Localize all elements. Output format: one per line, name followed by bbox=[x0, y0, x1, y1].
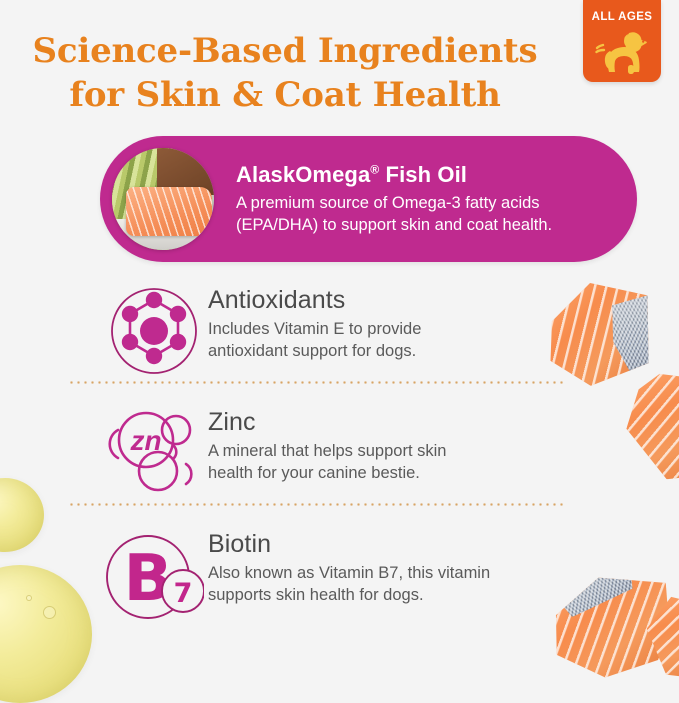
feature-title-zinc: Zinc bbox=[208, 408, 446, 437]
feature-biotin: B 7 Biotin Also known as Vitamin B7, thi… bbox=[100, 528, 570, 624]
feature-desc-line-2: supports skin health for dogs. bbox=[208, 585, 490, 607]
feature-desc-biotin: Also known as Vitamin B7, this vitamin s… bbox=[208, 563, 490, 607]
powered-by-text: POWERED BY bbox=[56, 140, 130, 143]
hero-title-brand: AlaskOmega bbox=[236, 162, 370, 187]
molecule-icon bbox=[109, 286, 199, 376]
feature-antioxidants: Antioxidants Includes Vitamin E to provi… bbox=[100, 284, 570, 376]
hero-copy: AlaskOmega® Fish Oil A premium source of… bbox=[236, 161, 552, 236]
zinc-icon-label: zn bbox=[129, 425, 161, 456]
feature-desc-zinc: A mineral that helps support skin health… bbox=[208, 441, 446, 485]
infographic-canvas: ALL AGES Science-Based Ingredients bbox=[0, 0, 679, 679]
zinc-atom-icon: zn bbox=[106, 408, 202, 494]
feature-title-biotin: Biotin bbox=[208, 530, 490, 559]
divider-1 bbox=[68, 381, 564, 384]
feature-title-antioxidants: Antioxidants bbox=[208, 286, 421, 315]
page-title-line-2: for Skin & Coat Health bbox=[0, 74, 570, 118]
vitamin-b7-icon: B 7 bbox=[104, 530, 204, 624]
alaskomega-hero-banner: AlaskOmega® Fish Oil A premium source of… bbox=[100, 136, 637, 262]
oil-droplet-small bbox=[0, 478, 44, 552]
feature-desc-line-1: A mineral that helps support skin bbox=[208, 441, 446, 463]
hero-description-line-2: (EPA/DHA) to support skin and coat healt… bbox=[236, 214, 552, 236]
registered-mark-icon: ® bbox=[370, 163, 379, 177]
hero-title: AlaskOmega® Fish Oil bbox=[236, 161, 552, 189]
divider-2 bbox=[68, 503, 564, 506]
salmon-piece-far-right bbox=[635, 587, 679, 688]
salmon-piece-right bbox=[618, 363, 679, 489]
feature-zinc: zn Zinc A mineral that helps support ski… bbox=[100, 406, 570, 494]
feature-desc-line-2: antioxidant support for dogs. bbox=[208, 341, 421, 363]
feature-desc-line-1: Also known as Vitamin B7, this vitamin bbox=[208, 563, 490, 585]
biotin-icon-number: 7 bbox=[174, 578, 193, 609]
dog-silhouette-icon bbox=[595, 25, 649, 77]
oil-droplet-large bbox=[0, 565, 92, 703]
feature-desc-line-1: Includes Vitamin E to provide bbox=[208, 319, 421, 341]
salmon-fillet-photo bbox=[112, 148, 214, 250]
all-ages-badge: ALL AGES bbox=[583, 0, 661, 82]
hero-title-tail: Fish Oil bbox=[379, 162, 467, 187]
hero-description-line-1: A premium source of Omega-3 fatty acids bbox=[236, 192, 552, 214]
feature-desc-line-2: health for your canine bestie. bbox=[208, 463, 446, 485]
page-title: Science-Based Ingredients for Skin & Coa… bbox=[0, 30, 570, 117]
all-ages-label: ALL AGES bbox=[592, 11, 653, 23]
feature-desc-antioxidants: Includes Vitamin E to provide antioxidan… bbox=[208, 319, 421, 363]
hero-description: A premium source of Omega-3 fatty acids … bbox=[236, 192, 552, 237]
page-title-line-1: Science-Based Ingredients bbox=[0, 30, 570, 74]
